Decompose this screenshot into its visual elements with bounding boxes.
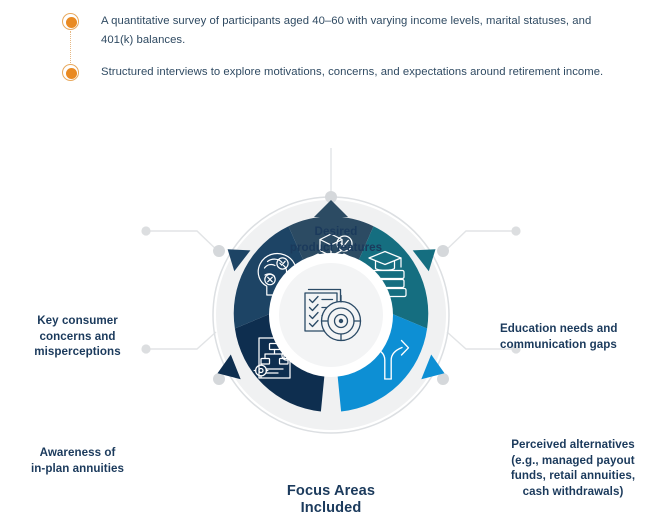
bullet-marker-icon	[62, 64, 81, 83]
bullet-marker-icon	[62, 13, 81, 32]
label-line: Perceived alternatives	[487, 437, 659, 453]
bullet-text: Structured interviews to explore motivat…	[101, 63, 603, 82]
connector-dot-left-upper	[141, 226, 150, 235]
label-line: funds, retail annuities,	[487, 468, 659, 484]
focus-areas-diagram: Desired product features Key consumer co…	[0, 104, 662, 464]
label-line: (e.g., managed payout	[487, 453, 659, 469]
label-awareness-in-plan-annuities: Awareness of in-plan annuities	[10, 445, 145, 476]
label-line: cash withdrawals)	[487, 484, 659, 500]
label-line: Key consumer	[10, 313, 145, 329]
list-item: A quantitative survey of participants ag…	[62, 12, 621, 49]
label-line: product features	[246, 240, 426, 256]
ring-node-left-lower	[213, 373, 225, 385]
list-item: Structured interviews to explore motivat…	[62, 63, 603, 83]
center-title-line: Focus Areas	[238, 483, 424, 500]
ring-node-left-upper	[213, 245, 225, 257]
label-perceived-alternatives: Perceived alternatives (e.g., managed pa…	[487, 437, 659, 499]
bullet-text: A quantitative survey of participants ag…	[101, 12, 621, 49]
label-line: misperceptions	[10, 344, 145, 360]
bullet-list: A quantitative survey of participants ag…	[0, 0, 662, 112]
label-education-needs: Education needs and communication gaps	[500, 321, 660, 352]
connector-dot-right-upper	[511, 226, 520, 235]
label-line: in-plan annuities	[10, 461, 145, 477]
label-line: Desired	[246, 224, 426, 240]
ring-node-right-lower	[437, 373, 449, 385]
label-line: concerns and	[10, 329, 145, 345]
label-line: Education needs and	[500, 321, 660, 337]
label-line: communication gaps	[500, 337, 660, 353]
label-key-consumer-concerns: Key consumer concerns and misperceptions	[10, 313, 145, 360]
ring-node-right-upper	[437, 245, 449, 257]
center-title-line: Included	[238, 500, 424, 517]
diagram-center-title: Focus Areas Included	[238, 483, 424, 517]
label-line: Awareness of	[10, 445, 145, 461]
label-desired-product-features: Desired product features	[246, 224, 426, 255]
diagram-canvas	[0, 104, 662, 464]
